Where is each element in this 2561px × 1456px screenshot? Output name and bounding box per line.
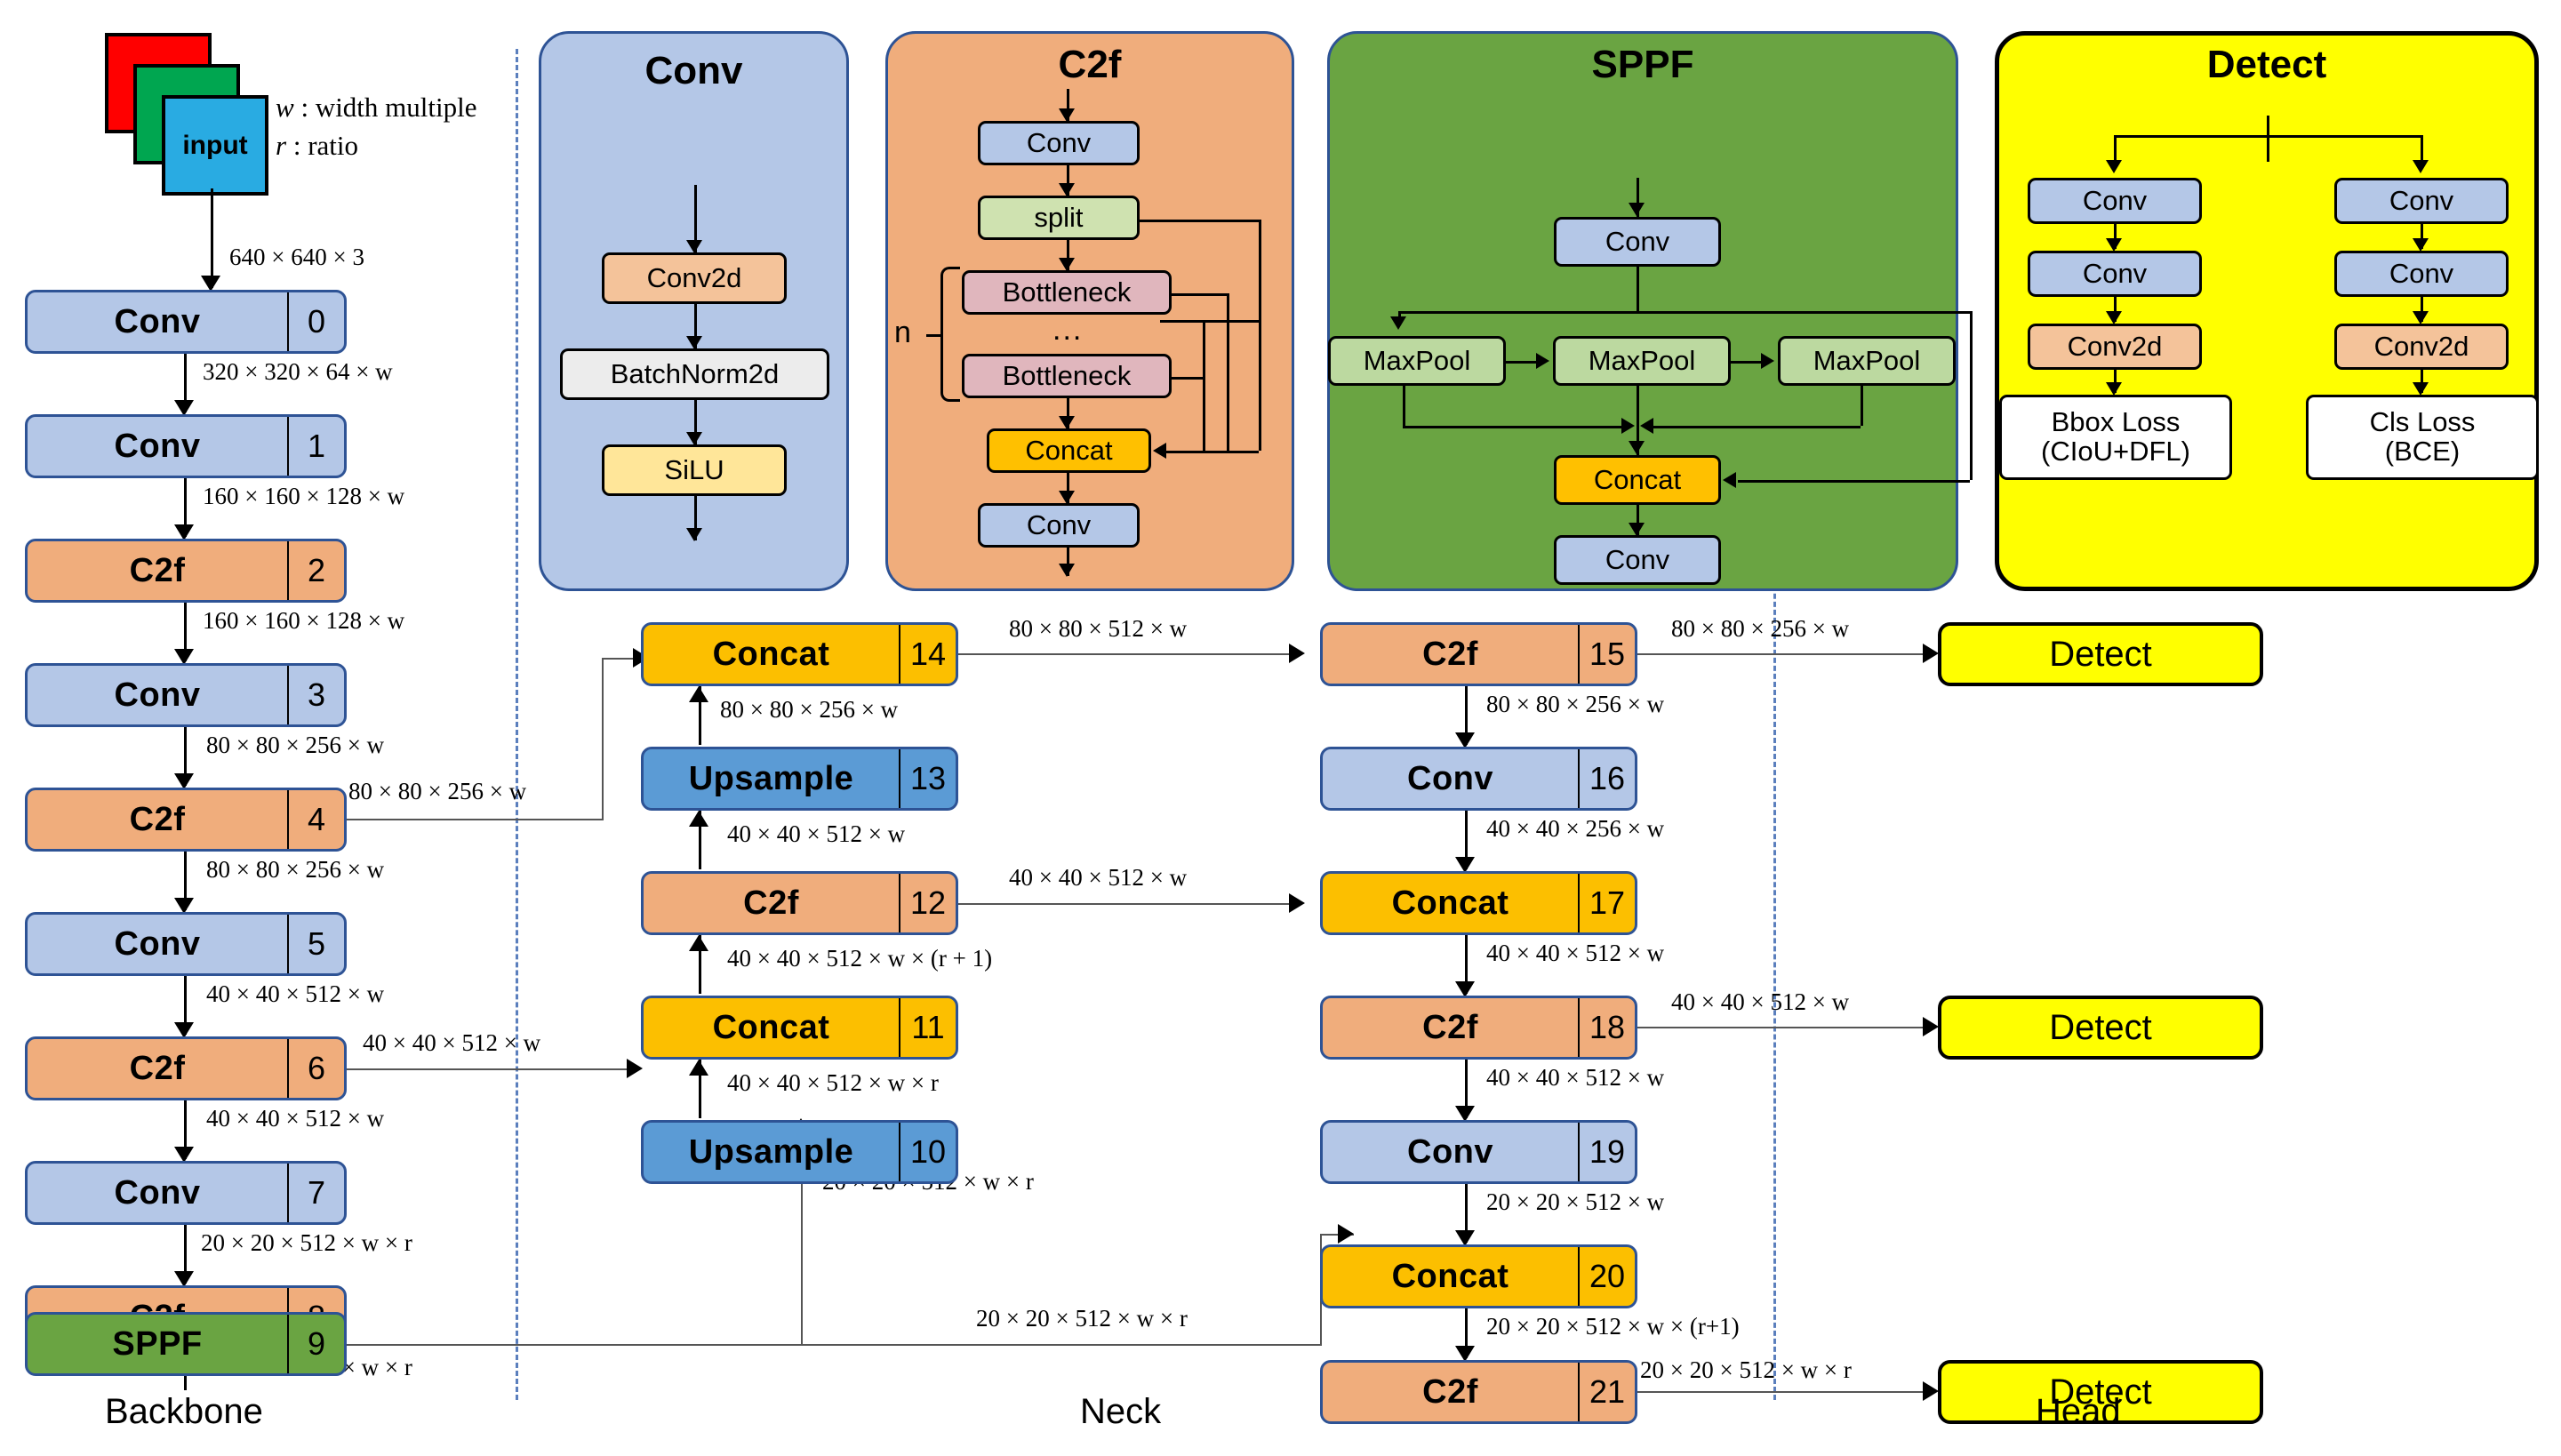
node-label: Concat (1323, 1247, 1578, 1306)
section-caption-neck: Neck (1080, 1392, 1161, 1432)
node-concat-14[interactable]: Concat 14 (641, 622, 958, 686)
legend-c2f-bn2-feed-v (1203, 377, 1205, 451)
legend-c2f-arrow-out (1059, 564, 1075, 577)
legend-c2f-block-concat[interactable]: Concat (987, 428, 1151, 473)
node-label: Conv (1323, 1123, 1578, 1181)
detect-output-1[interactable]: Detect (1938, 622, 2263, 686)
legend-c2f-bn-feed-v (1227, 320, 1229, 451)
node-index: 0 (287, 292, 344, 351)
edge-label-n16-n17: 40 × 40 × 256 × w (1486, 817, 1664, 841)
edge-label-n20-n21: 20 × 20 × 512 × w × (r+1) (1486, 1315, 1740, 1339)
skip-line-c2f4-v (602, 658, 604, 820)
node-label: Conv (28, 417, 287, 476)
legend-sppf-bus-v (1637, 267, 1639, 311)
node-label: C2f (1323, 625, 1578, 684)
legend-block-label: Bottleneck (1003, 360, 1132, 392)
node-conv-16[interactable]: Conv 16 (1320, 747, 1637, 811)
legend-detect-right-arrow (2413, 160, 2429, 173)
bbox-loss-line2: (CIoU+DFL) (2041, 437, 2190, 467)
legend-detect-left-arrow-1 (2106, 238, 2122, 252)
node-index: 10 (899, 1123, 956, 1181)
legend-c2f-bn1-h (1172, 293, 1227, 296)
legend-sppf-block-maxpool-1[interactable]: MaxPool (1328, 336, 1506, 386)
node-conv-0[interactable]: Conv 0 (25, 290, 347, 354)
node-c2f-15[interactable]: C2f 15 (1320, 622, 1637, 686)
arrowhead-sppf9-concat20 (1338, 1224, 1354, 1244)
node-label: Upsample (644, 749, 899, 808)
edge-label-skip-sppf9: 20 × 20 × 512 × w × r (976, 1307, 1188, 1331)
node-index: 3 (287, 666, 344, 724)
detect-output-label: Detect (2049, 1008, 2152, 1048)
legend-block-label: Conv2d (647, 262, 742, 294)
node-label: Conv (28, 666, 287, 724)
legend-c2f-repeat-count: n (894, 316, 911, 350)
node-index: 19 (1578, 1123, 1635, 1181)
node-index: 9 (287, 1315, 344, 1373)
legend-c2f-split-bypass-h (1140, 220, 1259, 222)
legend-detect-right-arrow-1 (2413, 238, 2429, 252)
arrowhead-c2f15-detect1 (1923, 644, 1939, 663)
legend-block-label: BatchNorm2d (611, 358, 780, 390)
legend-c2f-block-conv-top[interactable]: Conv (978, 121, 1140, 165)
edge-label-input-to-conv0: 640 × 640 × 3 (229, 245, 364, 269)
legend-c2f-block-split[interactable]: split (978, 196, 1140, 240)
node-conv-19[interactable]: Conv 19 (1320, 1120, 1637, 1184)
node-index: 15 (1578, 625, 1635, 684)
detect-output-2[interactable]: Detect (1938, 996, 2263, 1060)
legend-conv-block-batchnorm[interactable]: BatchNorm2d (560, 348, 829, 400)
legend-block-label: Conv (2389, 258, 2453, 290)
skip-line-c2f4-h (347, 819, 602, 820)
node-conv-3[interactable]: Conv 3 (25, 663, 347, 727)
node-index: 14 (899, 625, 956, 684)
node-upsample-13[interactable]: Upsample 13 (641, 747, 958, 811)
legend-sppf-block-concat[interactable]: Concat (1554, 455, 1721, 505)
input-label: input (182, 131, 247, 161)
legend-c2f-brace-stem (926, 334, 942, 337)
legend-sppf-arrow-mp2-mp3 (1761, 353, 1774, 369)
legend-sppf-bypass-h (1738, 480, 1970, 483)
legend-detect-left-arrow (2106, 160, 2122, 173)
edge-c2f18-detect2 (1637, 1027, 1935, 1028)
node-c2f-2[interactable]: C2f 2 (25, 539, 347, 603)
node-conv-1[interactable]: Conv 1 (25, 414, 347, 478)
node-label: C2f (644, 874, 899, 932)
legend-sppf-arrow-mp1-mp2 (1536, 353, 1549, 369)
node-label: Upsample (644, 1123, 899, 1181)
node-index: 16 (1578, 749, 1635, 808)
legend-detect-left-conv-2[interactable]: Conv (2028, 251, 2202, 297)
node-sppf-9[interactable]: SPPF 9 (25, 1312, 347, 1376)
arrowhead-c2f12-upsample13 (689, 811, 708, 827)
node-label: C2f (1323, 1363, 1578, 1421)
node-label: C2f (1323, 998, 1578, 1057)
edge-label-conv1-c2f2: 160 × 160 × 128 × w (203, 484, 404, 508)
arrowhead-concat14-c2f15 (1289, 644, 1305, 663)
legend-detect-right-conv2d[interactable]: Conv2d (2334, 324, 2509, 370)
node-label: C2f (28, 541, 287, 600)
legend-detect-cls-loss: Cls Loss (BCE) (2306, 395, 2539, 480)
node-concat-11[interactable]: Concat 11 (641, 996, 958, 1060)
divider-backbone-neck (516, 49, 518, 1400)
legend-detect-stem (2267, 116, 2269, 162)
legend-detect-right-conv-2[interactable]: Conv (2334, 251, 2509, 297)
node-conv-7[interactable]: Conv 7 (25, 1161, 347, 1225)
edge-label-conv3-c2f4: 80 × 80 × 256 × w (206, 733, 384, 757)
edge-label-n18-detect: 40 × 40 × 512 × w (1671, 990, 1849, 1014)
node-c2f-21[interactable]: C2f 21 (1320, 1360, 1637, 1424)
edge-label-n18-n19: 40 × 40 × 512 × w (1486, 1066, 1664, 1090)
legend-conv-arrow-1 (686, 336, 702, 349)
edge-label-conv5-c2f6: 40 × 40 × 512 × w (206, 982, 384, 1006)
legend-c2f-ellipsis: ... (1052, 313, 1083, 348)
legend-block-label: Conv2d (2374, 331, 2469, 363)
node-label: Conv (1323, 749, 1578, 808)
legend-detect-left-conv2d[interactable]: Conv2d (2028, 324, 2202, 370)
legend-sppf-block-conv-top[interactable]: Conv (1554, 217, 1721, 267)
node-label: C2f (28, 1039, 287, 1098)
edge-label-skip-c2f6: 40 × 40 × 512 × w (363, 1031, 540, 1055)
legend-sppf-block-conv-bottom[interactable]: Conv (1554, 535, 1721, 585)
edge-label-n21-detect: 20 × 20 × 512 × w × r (1640, 1358, 1852, 1382)
node-c2f-6[interactable]: C2f 6 (25, 1036, 347, 1100)
legend-c2f-block-bottleneck-2[interactable]: Bottleneck (962, 354, 1172, 398)
legend-block-label: Conv (1605, 226, 1669, 258)
arrowhead-concat11-c2f12 (689, 935, 708, 951)
edge-label-conv7-c2f8: 20 × 20 × 512 × w × r (201, 1231, 412, 1255)
legend-c2f-bn2-v2 (1203, 320, 1205, 377)
legend-sppf-block-maxpool-3[interactable]: MaxPool (1778, 336, 1956, 386)
legend-block-label: Conv (1027, 509, 1091, 541)
arrowhead-c2f21-detect3 (1923, 1381, 1939, 1401)
edge-label-c2f2-conv3: 160 × 160 × 128 × w (203, 609, 404, 633)
node-label: Concat (644, 625, 899, 684)
legend-sppf-arrow-in (1629, 203, 1645, 216)
legend-block-label: Conv (2083, 258, 2147, 290)
cls-loss-line1: Cls Loss (2370, 408, 2476, 437)
edge-label-n13-n14: 80 × 80 × 256 × w (720, 698, 898, 722)
node-index: 17 (1578, 874, 1635, 932)
edge-label-n12-skip: 40 × 40 × 512 × w (1009, 866, 1187, 890)
node-label: Conv (28, 915, 287, 973)
node-label: Concat (1323, 874, 1578, 932)
edge-label-n15-detect: 80 × 80 × 256 × w (1671, 617, 1849, 641)
legend-sppf-arrow-to-mp1 (1390, 316, 1406, 330)
node-c2f-4[interactable]: C2f 4 (25, 788, 347, 852)
legend-sppf-bus-h (1398, 311, 1970, 314)
legend-c2f-split-bypass-v (1259, 220, 1261, 320)
legend-block-label: Conv (2389, 185, 2453, 217)
legend-sppf-merge-arrow-right (1640, 418, 1653, 434)
node-c2f-18[interactable]: C2f 18 (1320, 996, 1637, 1060)
arrowhead-c2f18-detect2 (1923, 1017, 1939, 1036)
node-label: C2f (28, 790, 287, 849)
edge-label-n14-n15: 80 × 80 × 512 × w (1009, 617, 1187, 641)
legend-sppf-merge-left (1403, 426, 1628, 428)
arrowhead-skip-c2f6 (627, 1059, 643, 1078)
legend-ratio-note: r : ratio (276, 127, 358, 164)
node-label: SPPF (28, 1315, 287, 1373)
node-index: 18 (1578, 998, 1635, 1057)
legend-width-note: w : width multiple (276, 89, 477, 126)
edge-label-n19-n20: 20 × 20 × 512 × w (1486, 1190, 1664, 1214)
cls-loss-line2: (BCE) (2385, 437, 2460, 467)
node-index: 6 (287, 1039, 344, 1098)
legend-sppf-mp1-down (1403, 386, 1405, 426)
node-index: 7 (287, 1164, 344, 1222)
legend-detect-right-conv-1[interactable]: Conv (2334, 178, 2509, 224)
edge-label-c2f6-conv7: 40 × 40 × 512 × w (206, 1107, 384, 1131)
section-caption-head: Head (2036, 1392, 2121, 1432)
legend-c2f-arrow-in (1059, 108, 1075, 122)
edge-label-conv0-conv1: 320 × 320 × 64 × w (203, 360, 393, 384)
arrowhead-upsample13-concat14 (689, 686, 708, 702)
skip-line-sppf9-h (347, 1344, 1320, 1346)
edge-concat14-c2f15 (958, 653, 1301, 655)
legend-block-label: split (1034, 202, 1083, 234)
legend-block-label: Conv (2083, 185, 2147, 217)
legend-detect-right-arrow-2 (2413, 311, 2429, 324)
node-upsample-10[interactable]: Upsample 10 (641, 1120, 958, 1184)
edge-c2f21-detect3 (1637, 1391, 1935, 1393)
legend-c2f-arrow-4 (1059, 491, 1075, 504)
node-c2f-12[interactable]: C2f 12 (641, 871, 958, 935)
legend-c2f-split-bypass-h2 (1160, 320, 1259, 323)
legend-block-label: Concat (1594, 464, 1681, 496)
legend-detect-left-conv-1[interactable]: Conv (2028, 178, 2202, 224)
legend-conv-arrow-out (686, 528, 702, 541)
arrowhead-upsample10-concat11 (689, 1060, 708, 1076)
legend-block-label: Conv2d (2068, 331, 2163, 363)
legend-conv-block-conv2d[interactable]: Conv2d (602, 252, 787, 304)
section-caption-backbone: Backbone (105, 1392, 263, 1432)
legend-detect-left-arrow-3 (2106, 382, 2122, 396)
legend-sppf-merge-right (1646, 426, 1861, 428)
node-index: 12 (899, 874, 956, 932)
node-concat-20[interactable]: Concat 20 (1320, 1244, 1637, 1308)
node-index: 5 (287, 915, 344, 973)
edge-label-skip-c2f4: 80 × 80 × 256 × w (348, 780, 526, 804)
node-index: 20 (1578, 1247, 1635, 1306)
edge-label-n10-n11: 40 × 40 × 512 × w × r (727, 1071, 939, 1095)
legend-c2f-arrow-3 (1059, 416, 1075, 429)
edge-input-to-conv0 (211, 188, 213, 288)
skip-line-c2f6-h (347, 1068, 640, 1070)
legend-conv-arrow-2 (686, 432, 702, 445)
legend-c2f-concat-feed-v (1259, 320, 1261, 451)
edge-label-n11-n12: 40 × 40 × 512 × w × (r + 1) (727, 947, 992, 971)
legend-sppf-block-maxpool-2[interactable]: MaxPool (1553, 336, 1731, 386)
legend-c2f-block-bottleneck-1[interactable]: Bottleneck (962, 270, 1172, 315)
node-index: 1 (287, 417, 344, 476)
node-index: 21 (1578, 1363, 1635, 1421)
legend-c2f-bn2-h (1172, 377, 1203, 380)
bbox-loss-line1: Bbox Loss (2052, 408, 2181, 437)
edge-label-n17-n18: 40 × 40 × 512 × w (1486, 941, 1664, 965)
legend-sppf-bypass-v (1970, 311, 1973, 480)
legend-panel-detect-title: Detect (1995, 43, 2539, 87)
legend-sppf-mp3-down (1861, 386, 1863, 426)
arrowhead-c2f12-concat17 (1289, 893, 1305, 913)
legend-conv-arrow-in (686, 240, 702, 253)
input-image-blue: input (162, 95, 268, 196)
legend-panel-c2f-title: C2f (885, 43, 1294, 87)
legend-c2f-bn1-v (1227, 293, 1229, 320)
legend-block-label: Concat (1025, 435, 1112, 467)
legend-c2f-arrow-1 (1059, 183, 1075, 196)
legend-block-label: Bottleneck (1003, 276, 1132, 308)
node-label: Concat (644, 998, 899, 1057)
node-index: 11 (899, 998, 956, 1057)
legend-block-label: SiLU (664, 454, 724, 486)
node-index: 13 (899, 749, 956, 808)
legend-detect-left-arrow-2 (2106, 311, 2122, 324)
node-index: 2 (287, 541, 344, 600)
legend-sppf-arrow-to-concat (1629, 441, 1645, 454)
node-label: Conv (28, 1164, 287, 1222)
legend-sppf-merge-arrow-left (1621, 418, 1635, 434)
edge-c2f15-detect1 (1637, 653, 1935, 655)
legend-sppf-arrow-concat-conv (1629, 523, 1645, 536)
legend-block-label: Conv (1027, 127, 1091, 159)
edge-label-n12-n13: 40 × 40 × 512 × w (727, 822, 905, 846)
legend-block-label: MaxPool (1589, 345, 1696, 377)
legend-panel-sppf-title: SPPF (1327, 43, 1958, 87)
legend-c2f-block-conv-bottom[interactable]: Conv (978, 503, 1140, 548)
legend-block-label: Conv (1605, 544, 1669, 576)
edge-label-n15-n16: 80 × 80 × 256 × w (1486, 692, 1664, 716)
node-label: Conv (28, 292, 287, 351)
node-index: 4 (287, 790, 344, 849)
legend-conv-block-silu[interactable]: SiLU (602, 444, 787, 496)
legend-sppf-bypass-arrow (1723, 472, 1736, 488)
legend-c2f-arrow-2 (1059, 258, 1075, 271)
edge-c2f12-concat17 (958, 903, 1301, 905)
node-concat-17[interactable]: Concat 17 (1320, 871, 1637, 935)
yolo-architecture-diagram: input w : width multiple r : ratio 640 ×… (0, 0, 2561, 1456)
node-conv-5[interactable]: Conv 5 (25, 912, 347, 976)
legend-block-label: MaxPool (1813, 345, 1921, 377)
legend-c2f-repeat-brace (940, 267, 960, 402)
legend-panel-conv-title: Conv (539, 49, 849, 93)
legend-c2f-concat-feed (1160, 451, 1259, 453)
edge-label-c2f4-conv5: 80 × 80 × 256 × w (206, 858, 384, 882)
detect-output-label: Detect (2049, 635, 2152, 675)
legend-block-label: MaxPool (1364, 345, 1471, 377)
legend-detect-right-arrow-3 (2413, 382, 2429, 396)
legend-detect-split-h (2114, 135, 2421, 138)
legend-detect-bbox-loss: Bbox Loss (CIoU+DFL) (1999, 395, 2232, 480)
